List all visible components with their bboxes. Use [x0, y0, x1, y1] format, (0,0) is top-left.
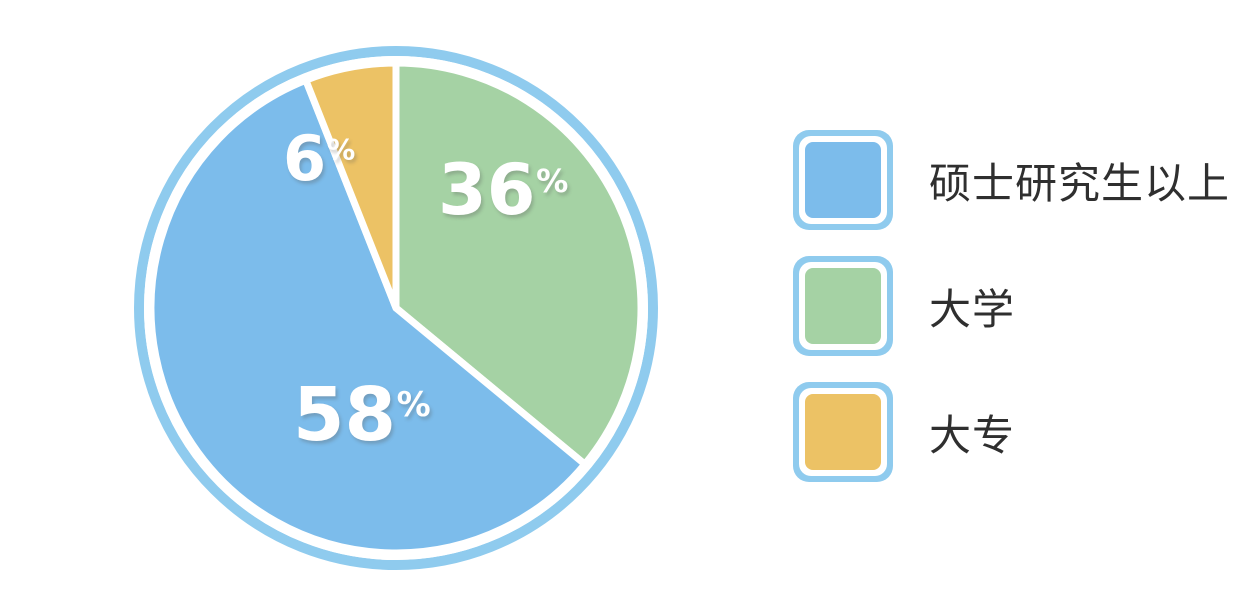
legend-label-college: 大专: [929, 402, 1015, 463]
data-label-blue-percent: %: [397, 385, 431, 425]
pie-chart-area: 58% 36% 6%: [0, 0, 760, 595]
legend-swatch-inner-gap: [799, 136, 887, 224]
data-label-orange: 6%: [283, 128, 355, 190]
data-label-green: 36%: [438, 155, 568, 225]
legend-swatch-blue: [793, 130, 893, 230]
legend-swatch-fill-orange: [805, 394, 881, 470]
data-label-blue-value: 58: [293, 372, 396, 458]
legend-swatch-fill-blue: [805, 142, 881, 218]
legend-swatch-green: [793, 256, 893, 356]
legend-label-graduate: 硕士研究生以上: [929, 150, 1230, 211]
legend-swatch-fill-green: [805, 268, 881, 344]
data-label-orange-percent: %: [327, 134, 356, 167]
legend: 硕士研究生以上 大学 大专: [793, 128, 1233, 484]
data-label-green-percent: %: [536, 162, 568, 200]
legend-label-university: 大学: [929, 276, 1015, 337]
legend-item-college[interactable]: 大专: [793, 380, 1233, 484]
data-label-green-value: 36: [438, 149, 535, 231]
data-label-blue: 58%: [293, 378, 430, 452]
legend-swatch-inner-gap: [799, 262, 887, 350]
legend-item-university[interactable]: 大学: [793, 254, 1233, 358]
pie-chart-figure: 58% 36% 6% 硕士研究生以上 大学: [0, 0, 1242, 595]
pie-chart-svg: [0, 0, 760, 595]
legend-swatch-orange: [793, 382, 893, 482]
legend-swatch-inner-gap: [799, 388, 887, 476]
legend-item-graduate[interactable]: 硕士研究生以上: [793, 128, 1233, 232]
data-label-orange-value: 6: [283, 122, 326, 195]
